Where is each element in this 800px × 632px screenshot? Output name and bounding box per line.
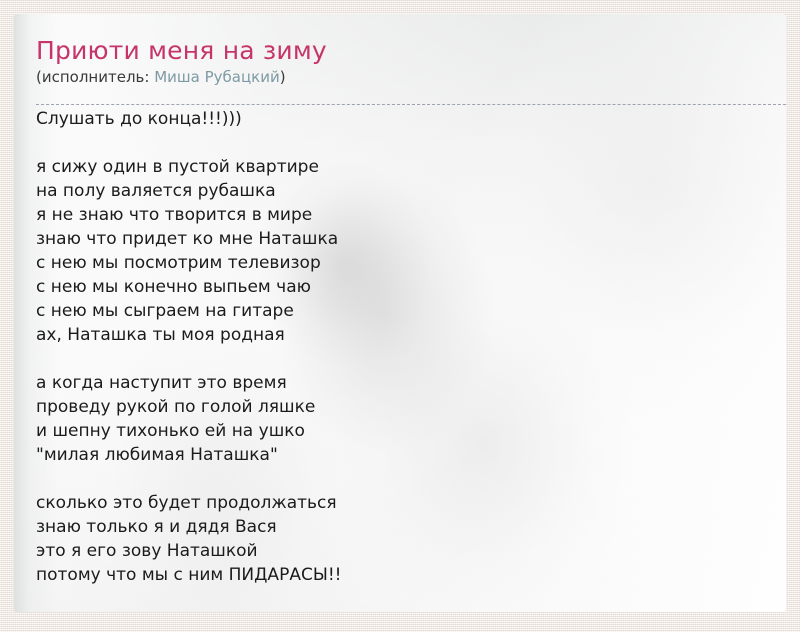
performer-prefix-label: (исполнитель: (36, 68, 154, 86)
title-separator (36, 104, 786, 105)
page-frame: Приюти меня на зиму (исполнитель: Миша Р… (0, 0, 800, 632)
lyrics-text: Слушать до конца!!!))) я сижу один в пус… (36, 87, 786, 587)
performer-line: (исполнитель: Миша Рубацкий) (36, 67, 786, 87)
performer-suffix-label: ) (280, 68, 286, 86)
lyrics-card: Приюти меня на зиму (исполнитель: Миша Р… (14, 14, 786, 612)
text-layer: Приюти меня на зиму (исполнитель: Миша Р… (14, 14, 786, 587)
performer-link[interactable]: Миша Рубацкий (154, 68, 280, 86)
page-title: Приюти меня на зиму (36, 36, 786, 66)
